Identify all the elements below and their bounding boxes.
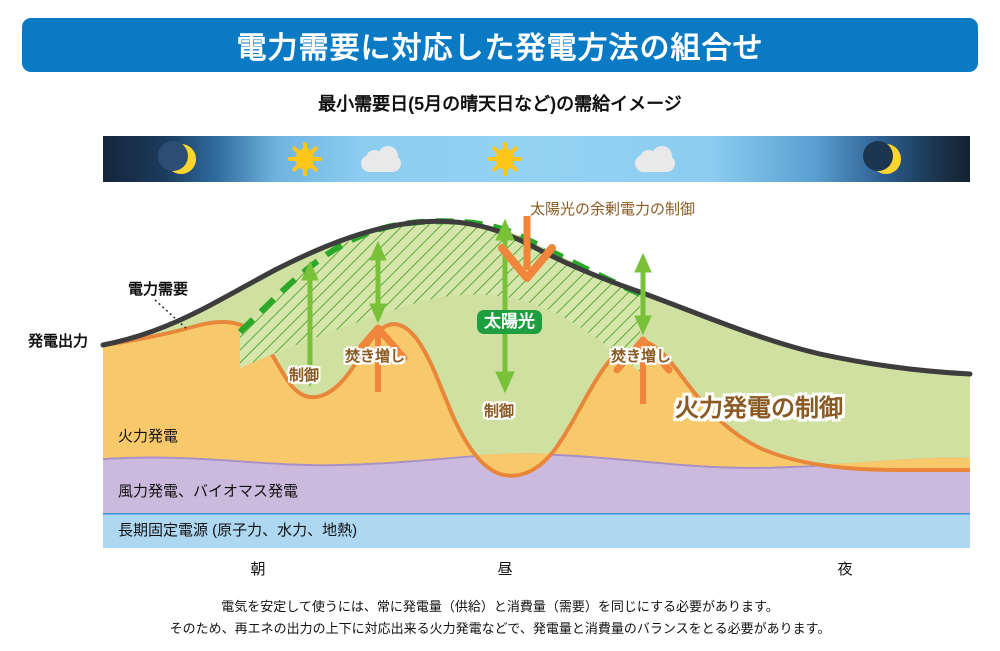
solar-badge: 太陽光: [477, 307, 542, 332]
cloud-icon: [361, 146, 401, 172]
x-tick-night: 夜: [837, 558, 852, 579]
sun-icon: [488, 142, 522, 176]
control-label-mid: 制御: [484, 400, 514, 421]
thermal-control-label: 火力発電の制御: [675, 388, 843, 423]
curtailment-header-label: 太陽光の余剰電力の制御: [530, 198, 695, 219]
cloud-icon: [635, 146, 675, 172]
rampup-label-right: 焚き増し: [611, 345, 671, 366]
control-label-left: 制御: [289, 364, 319, 385]
rampup-label-left: 焚き増し: [345, 345, 405, 366]
page-title: 電力需要に対応した発電方法の組合せ: [237, 23, 764, 67]
footnotes: 電気を安定して使うには、常に発電量（供給）と消費量（需要）を同じにする必要があり…: [0, 596, 1000, 640]
demand-curve-label: 電力需要: [128, 278, 188, 299]
page-title-bar: 電力需要に対応した発電方法の組合せ: [22, 18, 978, 72]
x-tick-morning: 朝: [250, 558, 265, 579]
infographic-root: 電力需要に対応した発電方法の組合せ 最小需要日(5月の晴天日など)の需給イメージ: [0, 0, 1000, 651]
y-axis-label: 発電出力: [28, 330, 88, 351]
x-tick-noon: 昼: [497, 558, 512, 579]
solar-badge-text: 太陽光: [477, 310, 542, 334]
page-subtitle: 最小需要日(5月の晴天日など)の需給イメージ: [0, 90, 1000, 116]
band-label-baseload: 長期固定電源 (原子力、水力、地熱): [118, 519, 357, 540]
moon-icon: [871, 144, 901, 174]
footnote-line-2: そのため、再エネの出力の上下に対応出来る火力発電などで、発電量と消費量のバランス…: [0, 618, 1000, 640]
moon-icon: [166, 144, 196, 174]
band-label-wind-biomass: 風力発電、バイオマス発電: [118, 480, 298, 501]
band-label-thermal: 火力発電: [118, 425, 178, 446]
sun-icon: [288, 142, 322, 176]
footnote-line-1: 電気を安定して使うには、常に発電量（供給）と消費量（需要）を同じにする必要があり…: [0, 596, 1000, 618]
day-night-strip: [103, 136, 970, 182]
